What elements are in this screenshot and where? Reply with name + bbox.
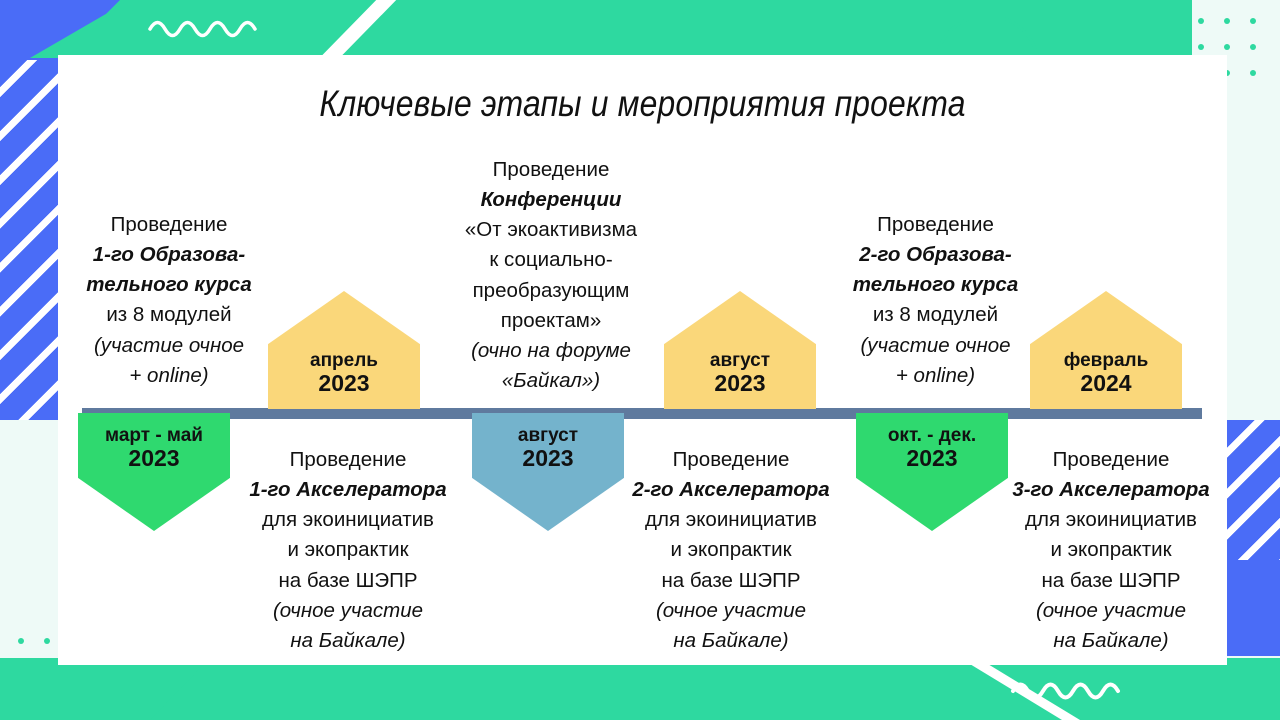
marker-label: февраль xyxy=(1064,350,1149,371)
text-line: Проведение xyxy=(616,445,846,475)
text-line: (очно на форуме xyxy=(436,336,666,366)
text-line: (очное участие xyxy=(233,596,463,626)
marker-year: 2023 xyxy=(318,371,369,397)
timeline-marker-march-may-2023[interactable]: март - май 2023 xyxy=(78,413,230,531)
text-line: 2-го Акселератора xyxy=(616,475,846,505)
text-block-accelerator-1: Проведение1-го Акселераторадля экоинициа… xyxy=(233,445,463,656)
text-line: «Байкал») xyxy=(436,366,666,396)
teal-wedge-bottom-left xyxy=(150,658,310,720)
blue-wedge-top-left xyxy=(0,0,120,60)
marker-label: август xyxy=(710,350,770,371)
marker-label: окт. - дек. xyxy=(888,425,976,446)
text-line: на Байкале) xyxy=(233,626,463,656)
text-line: (участие очное xyxy=(828,331,1043,361)
text-line: на базе ШЭПР xyxy=(996,566,1226,596)
teal-band-top xyxy=(62,0,1192,58)
marker-label: апрель xyxy=(310,350,378,371)
text-line: (участие очное xyxy=(64,331,274,361)
text-line: для экоинициатив xyxy=(616,505,846,535)
text-line: Конференции xyxy=(436,185,666,215)
timeline-marker-august-2023-blue[interactable]: август 2023 xyxy=(472,413,624,531)
text-line: на Байкале) xyxy=(996,626,1226,656)
timeline-marker-oct-dec-2023[interactable]: окт. - дек. 2023 xyxy=(856,413,1008,531)
text-line: Проведение xyxy=(64,210,274,240)
text-line: 1-го Акселератора xyxy=(233,475,463,505)
marker-year: 2023 xyxy=(906,446,957,472)
timeline-marker-february-2024[interactable]: февраль 2024 xyxy=(1030,291,1182,409)
text-line: Проведение xyxy=(233,445,463,475)
blue-striped-band-left xyxy=(0,0,62,420)
marker-label: август xyxy=(518,425,578,446)
text-line: к социально- xyxy=(436,245,666,275)
page-title: Ключевые этапы и мероприятия проекта xyxy=(140,83,1145,125)
text-line: для экоинициатив xyxy=(996,505,1226,535)
text-line: тельного курса xyxy=(64,270,274,300)
marker-label: март - май xyxy=(105,425,203,446)
mint-strip-right xyxy=(1234,180,1280,430)
teal-triangle-top-left xyxy=(30,0,130,58)
text-line: на базе ШЭПР xyxy=(233,566,463,596)
text-line: тельного курса xyxy=(828,270,1043,300)
text-line: и экопрактик xyxy=(616,535,846,565)
timeline-marker-april-2023[interactable]: апрель 2023 xyxy=(268,291,420,409)
text-line: + online) xyxy=(64,361,274,391)
text-line: (очное участие xyxy=(996,596,1226,626)
timeline-bar xyxy=(82,408,1202,419)
marker-year: 2023 xyxy=(128,446,179,472)
text-line: 1-го Образова- xyxy=(64,240,274,270)
text-block-edu-course-2: Проведение2-го Образова-тельного курсаиз… xyxy=(828,210,1043,391)
text-line: преобразующим xyxy=(436,276,666,306)
mint-fill-top-right xyxy=(1192,0,1280,58)
marker-year: 2023 xyxy=(714,371,765,397)
text-block-accelerator-3: Проведение3-го Акселераторадля экоинициа… xyxy=(996,445,1226,656)
white-diagonal-bottom xyxy=(960,658,1080,720)
text-line: на Байкале) xyxy=(616,626,846,656)
text-block-accelerator-2: Проведение2-го Акселераторадля экоинициа… xyxy=(616,445,846,656)
text-line: из 8 модулей xyxy=(828,300,1043,330)
slide-canvas: Ключевые этапы и мероприятия проекта Про… xyxy=(0,0,1280,720)
text-line: (очное участие xyxy=(616,596,846,626)
teal-band-bottom xyxy=(0,658,1280,720)
text-line: для экоинициатив xyxy=(233,505,463,535)
text-line: Проведение xyxy=(828,210,1043,240)
text-block-conference: ПроведениеКонференции«От экоактивизмак с… xyxy=(436,155,666,396)
text-line: «От экоактивизма xyxy=(436,215,666,245)
text-line: и экопрактик xyxy=(996,535,1226,565)
text-line: + online) xyxy=(828,361,1043,391)
text-line: из 8 модулей xyxy=(64,300,274,330)
text-line: 3-го Акселератора xyxy=(996,475,1226,505)
text-block-edu-course-1: Проведение1-го Образова-тельного курсаиз… xyxy=(64,210,274,391)
content-card: Ключевые этапы и мероприятия проекта Про… xyxy=(58,55,1227,665)
marker-year: 2023 xyxy=(522,446,573,472)
timeline-marker-august-2023[interactable]: август 2023 xyxy=(664,291,816,409)
text-line: и экопрактик xyxy=(233,535,463,565)
text-line: 2-го Образова- xyxy=(828,240,1043,270)
text-line: Проведение xyxy=(996,445,1226,475)
wave-squiggle-top-left xyxy=(148,14,268,44)
text-line: проектам» xyxy=(436,306,666,336)
wave-squiggle-bottom-right xyxy=(1010,676,1135,706)
text-line: на базе ШЭПР xyxy=(616,566,846,596)
text-line: Проведение xyxy=(436,155,666,185)
marker-year: 2024 xyxy=(1080,371,1131,397)
